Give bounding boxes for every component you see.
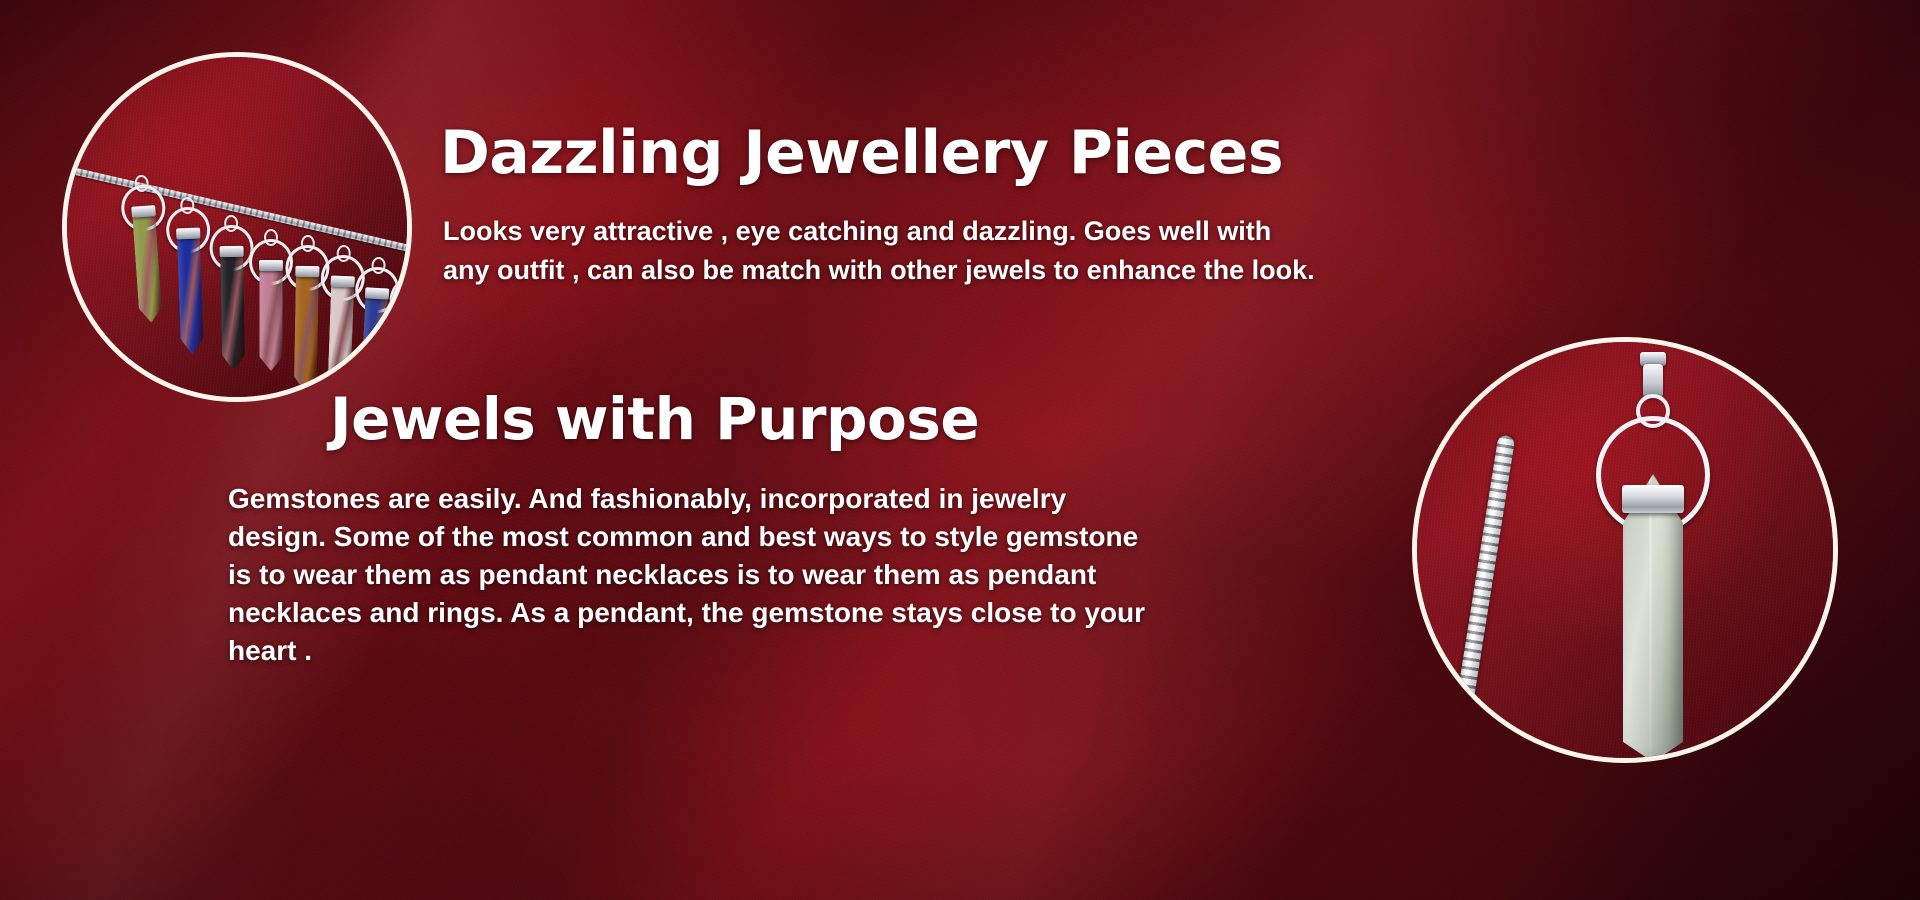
silver-cap	[259, 260, 283, 271]
section-2-body: Gemstones are easily. And fashionably, i…	[228, 480, 1158, 670]
section-2-heading: Jewels with Purpose	[330, 385, 979, 453]
silver-cap	[220, 246, 244, 257]
green-gemstone-point	[1623, 474, 1683, 762]
silver-cap	[365, 287, 390, 299]
silver-cap	[131, 205, 156, 218]
section-1-heading: Dazzling Jewellery Pieces	[440, 118, 1283, 188]
pendant-bail	[1643, 364, 1663, 398]
single-gemstone-pendant-photo	[1412, 337, 1838, 763]
jewellery-promo-banner: Dazzling Jewellery Pieces Looks very att…	[0, 0, 1920, 900]
gemstone-point	[294, 275, 319, 393]
silver-cap	[1622, 485, 1684, 513]
silver-cap	[176, 228, 200, 240]
gemstone-point	[220, 255, 245, 371]
silver-cap	[295, 266, 319, 277]
gemstone-pendant-chain-photo	[62, 52, 412, 402]
gemstone-point	[177, 237, 204, 356]
gemstone-point	[260, 269, 283, 371]
gemstone-point	[327, 285, 354, 398]
silver-cap	[331, 276, 355, 288]
section-1-body: Looks very attractive , eye catching and…	[443, 212, 1323, 290]
